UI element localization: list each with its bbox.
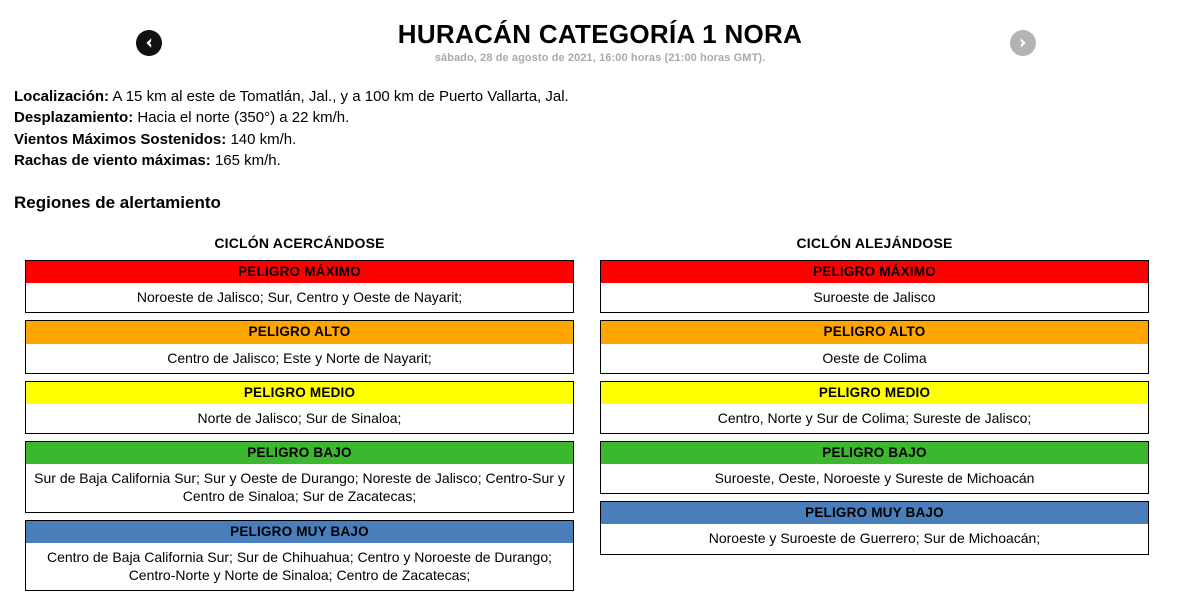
- alert-block-maximo: PELIGRO MÁXIMO Suroeste de Jalisco: [600, 260, 1149, 313]
- info-label: Desplazamiento:: [14, 109, 133, 126]
- column-title: CICLÓN ALEJÁNDOSE: [600, 235, 1149, 251]
- alert-regions-text: Oeste de Colima: [601, 344, 1148, 373]
- storm-info-list: Localización: A 15 km al este de Tomatlá…: [14, 86, 1200, 171]
- column-ciclon-alejandose: CICLÓN ALEJÁNDOSE PELIGRO MÁXIMO Suroest…: [600, 235, 1149, 598]
- alert-block-alto: PELIGRO ALTO Centro de Jalisco; Este y N…: [25, 320, 574, 373]
- alert-regions-text: Suroeste de Jalisco: [601, 283, 1148, 312]
- info-value: Hacia el norte (350°) a 22 km/h.: [137, 109, 349, 126]
- alert-regions-text: Centro de Jalisco; Este y Norte de Nayar…: [26, 344, 573, 373]
- alert-level-label: PELIGRO BAJO: [26, 442, 573, 464]
- next-advisory-button[interactable]: [1010, 30, 1036, 56]
- alert-level-label: PELIGRO MUY BAJO: [601, 502, 1148, 524]
- page-header: HURACÁN CATEGORÍA 1 NORA sábado, 28 de a…: [0, 0, 1200, 72]
- info-value: A 15 km al este de Tomatlán, Jal., y a 1…: [112, 88, 568, 105]
- alert-regions-text: Norte de Jalisco; Sur de Sinaloa;: [26, 404, 573, 433]
- info-line-localizacion: Localización: A 15 km al este de Tomatlá…: [14, 86, 1200, 107]
- info-line-rachas: Rachas de viento máximas: 165 km/h.: [14, 150, 1200, 171]
- title-block: HURACÁN CATEGORÍA 1 NORA sábado, 28 de a…: [280, 0, 920, 64]
- alert-level-label: PELIGRO MUY BAJO: [26, 521, 573, 543]
- alert-regions-text: Suroeste, Oeste, Noroeste y Sureste de M…: [601, 464, 1148, 493]
- column-title: CICLÓN ACERCÁNDOSE: [25, 235, 574, 251]
- alert-block-bajo: PELIGRO BAJO Suroeste, Oeste, Noroeste y…: [600, 441, 1149, 494]
- alert-regions-text: Centro de Baja California Sur; Sur de Ch…: [26, 543, 573, 590]
- alert-regions-text: Noroeste de Jalisco; Sur, Centro y Oeste…: [26, 283, 573, 312]
- page-title: HURACÁN CATEGORÍA 1 NORA: [280, 20, 920, 48]
- info-label: Rachas de viento máximas:: [14, 152, 211, 169]
- alert-block-medio: PELIGRO MEDIO Norte de Jalisco; Sur de S…: [25, 381, 574, 434]
- column-ciclon-acercandose: CICLÓN ACERCÁNDOSE PELIGRO MÁXIMO Noroes…: [25, 235, 574, 598]
- alert-block-bajo: PELIGRO BAJO Sur de Baja California Sur;…: [25, 441, 574, 512]
- alert-level-label: PELIGRO MÁXIMO: [26, 261, 573, 283]
- info-value: 140 km/h.: [230, 131, 296, 148]
- alert-regions-text: Noroeste y Suroeste de Guerrero; Sur de …: [601, 524, 1148, 553]
- info-label: Localización:: [14, 88, 109, 105]
- alert-regions-text: Sur de Baja California Sur; Sur y Oeste …: [26, 464, 573, 511]
- chevron-right-icon: [1016, 36, 1030, 50]
- alert-level-label: PELIGRO ALTO: [26, 321, 573, 343]
- section-heading-regiones: Regiones de alertamiento: [14, 193, 1200, 213]
- alert-regions-text: Centro, Norte y Sur de Colima; Sureste d…: [601, 404, 1148, 433]
- alert-block-muy-bajo: PELIGRO MUY BAJO Noroeste y Suroeste de …: [600, 501, 1149, 554]
- alert-level-label: PELIGRO MÁXIMO: [601, 261, 1148, 283]
- alert-level-label: PELIGRO BAJO: [601, 442, 1148, 464]
- info-label: Vientos Máximos Sostenidos:: [14, 131, 226, 148]
- info-value: 165 km/h.: [215, 152, 281, 169]
- chevron-left-icon: [142, 36, 156, 50]
- alert-block-medio: PELIGRO MEDIO Centro, Norte y Sur de Col…: [600, 381, 1149, 434]
- alert-level-label: PELIGRO ALTO: [601, 321, 1148, 343]
- info-line-vientos-maximos: Vientos Máximos Sostenidos: 140 km/h.: [14, 129, 1200, 150]
- alert-level-label: PELIGRO MEDIO: [26, 382, 573, 404]
- advisory-timestamp: sábado, 28 de agosto de 2021, 16:00 hora…: [280, 52, 920, 64]
- alert-block-alto: PELIGRO ALTO Oeste de Colima: [600, 320, 1149, 373]
- alert-level-label: PELIGRO MEDIO: [601, 382, 1148, 404]
- alert-regions-columns: CICLÓN ACERCÁNDOSE PELIGRO MÁXIMO Noroes…: [0, 235, 1200, 598]
- alert-block-maximo: PELIGRO MÁXIMO Noroeste de Jalisco; Sur,…: [25, 260, 574, 313]
- alert-block-muy-bajo: PELIGRO MUY BAJO Centro de Baja Californ…: [25, 520, 574, 591]
- info-line-desplazamiento: Desplazamiento: Hacia el norte (350°) a …: [14, 107, 1200, 128]
- previous-advisory-button[interactable]: [136, 30, 162, 56]
